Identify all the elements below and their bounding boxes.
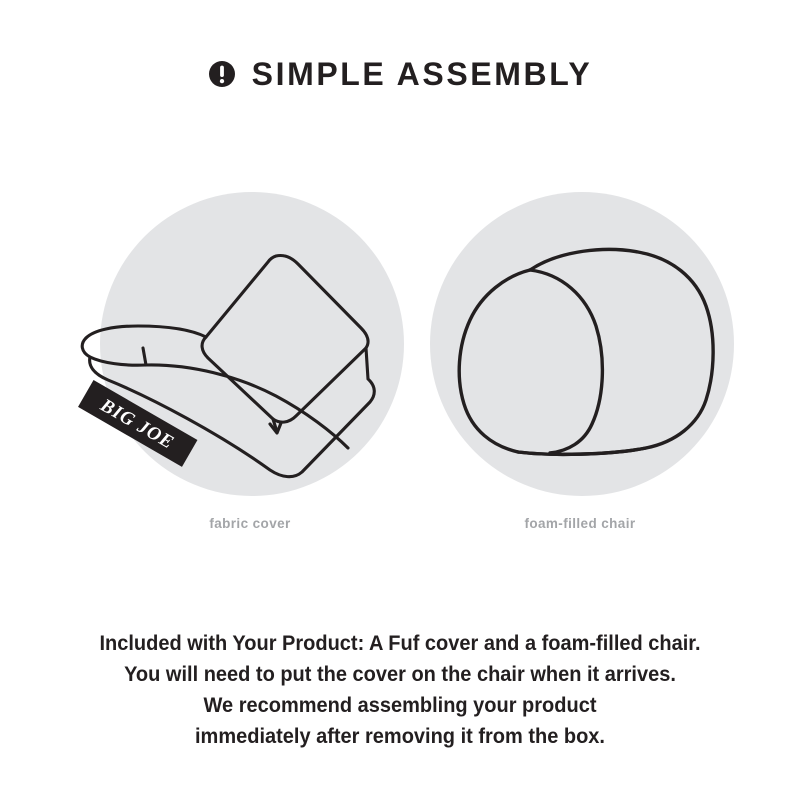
page-header: SIMPLE ASSEMBLY xyxy=(0,52,800,96)
cover-top-left-edge xyxy=(86,326,206,338)
cover-top-face xyxy=(202,255,368,422)
caption-fabric-cover: fabric cover xyxy=(80,516,420,531)
note-line-2: You will need to put the cover on the ch… xyxy=(65,659,735,690)
cover-left-crease-tick xyxy=(143,348,146,365)
cover-left-fold xyxy=(82,338,146,365)
panel-foam-filled-chair: foam-filled chair xyxy=(410,180,750,560)
foam-filled-chair-illustration xyxy=(410,180,750,510)
note-line-1: Included with Your Product: A Fuf cover … xyxy=(65,628,735,659)
included-note: Included with Your Product: A Fuf cover … xyxy=(40,628,760,752)
note-line-4: immediately after removing it from the b… xyxy=(65,721,735,752)
chair-front-seam xyxy=(530,270,602,453)
chair-left-outline xyxy=(459,270,530,452)
note-line-3: We recommend assembling your product xyxy=(65,690,735,721)
exclamation-circle-icon xyxy=(208,60,236,88)
chair-bottom-edge xyxy=(518,448,646,454)
assembly-instruction-page: SIMPLE ASSEMBLY xyxy=(0,0,800,800)
fabric-cover-illustration: BIG JOE xyxy=(80,180,420,510)
chair-outer-body xyxy=(518,249,713,454)
caption-foam-filled-chair: foam-filled chair xyxy=(410,516,750,531)
page-title: SIMPLE ASSEMBLY xyxy=(252,58,593,90)
illustration-panels: BIG JOE fabric cover f xyxy=(0,180,800,560)
panel-fabric-cover: BIG JOE fabric cover xyxy=(80,180,420,560)
folded-cover-outline xyxy=(82,255,374,476)
